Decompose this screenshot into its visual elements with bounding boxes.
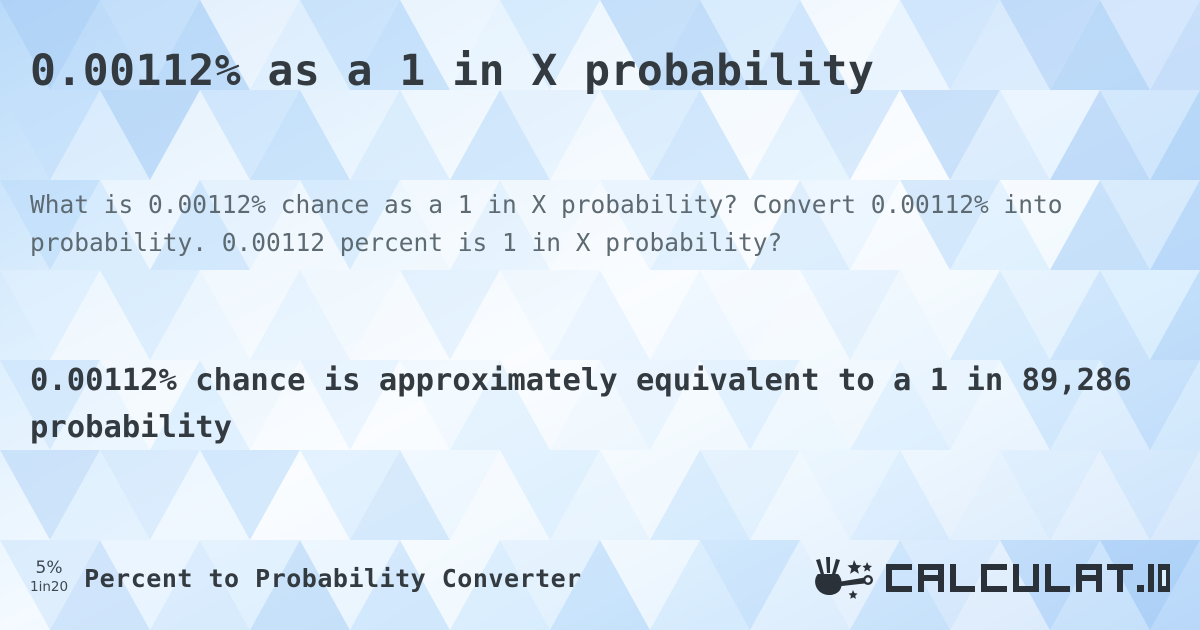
brand-logo[interactable] — [810, 554, 1170, 602]
footer-left: 5% 1in20 Percent to Probability Converte… — [30, 560, 582, 597]
badge-oneinx-label: 1in20 — [30, 581, 68, 595]
intro-description: What is 0.00112% chance as a 1 in X prob… — [30, 186, 1105, 262]
hand-magic-wand-icon — [815, 557, 873, 599]
percent-probability-badge: 5% 1in20 — [30, 560, 68, 597]
calculatio-logo-svg — [810, 554, 1170, 602]
result-statement: 0.00112% chance is approximately equival… — [30, 357, 1170, 451]
converter-name: Percent to Probability Converter — [84, 564, 582, 593]
calculatio-wordmark — [886, 564, 1170, 592]
share-card: 0.00112% as a 1 in X probability What is… — [0, 0, 1200, 630]
page-title: 0.00112% as a 1 in X probability — [30, 44, 874, 98]
footer: 5% 1in20 Percent to Probability Converte… — [0, 548, 1200, 608]
badge-percent-label: 5% — [36, 560, 63, 577]
